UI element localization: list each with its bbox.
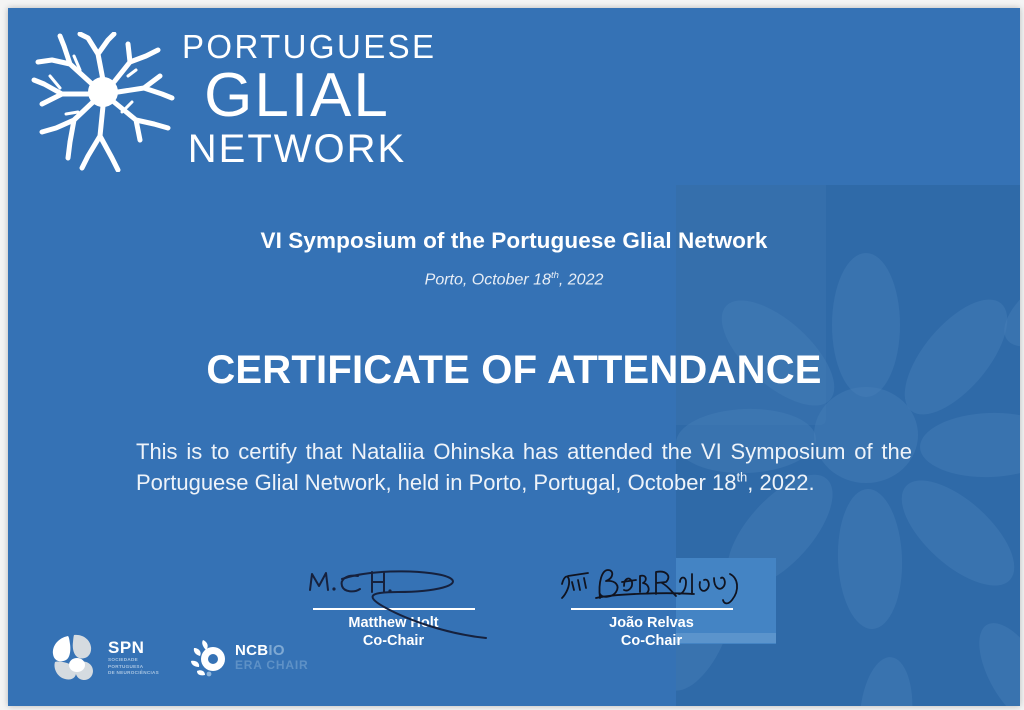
- body-date-ordinal: th: [736, 470, 747, 485]
- event-date-ordinal: th: [551, 270, 559, 281]
- certificate-canvas: PORTUGUESE GLIAL NETWORK VI Symposium of…: [0, 0, 1024, 710]
- certificate-body: This is to certify that Nataliia Ohinska…: [136, 436, 912, 498]
- ncbio-era-chair-icon: [187, 636, 231, 680]
- ncbio-abbr-faded: IO: [268, 642, 284, 659]
- footer-logos: SPN SOCIEDADE PORTUGUESA DE NEUROCIÊNCIA…: [48, 632, 308, 684]
- event-location-date: Porto, October 18th, 2022: [8, 270, 1020, 289]
- signatory-name: João Relvas: [544, 614, 759, 632]
- ncbio-abbr-strong: NCB: [235, 642, 268, 659]
- signature-block-joao-relvas: João Relvas Co-Chair: [544, 564, 759, 650]
- spn-full-line-1: SOCIEDADE: [108, 657, 159, 664]
- signatory-role: Co-Chair: [544, 632, 759, 650]
- signatory-name: Matthew Holt: [286, 614, 501, 632]
- joao-relvas-signature: [544, 564, 759, 608]
- spn-wordmark: SPN SOCIEDADE PORTUGUESA DE NEUROCIÊNCIA…: [108, 639, 159, 677]
- spn-full-line-3: DE NEUROCIÊNCIAS: [108, 670, 159, 677]
- event-date-suffix: , 2022: [559, 271, 603, 288]
- brand-logo: PORTUGUESE GLIAL NETWORK: [30, 24, 410, 184]
- ncbio-wordmark: NCBIO ERA CHAIR: [235, 643, 308, 672]
- spn-logo: SPN SOCIEDADE PORTUGUESA DE NEUROCIÊNCIA…: [48, 632, 159, 684]
- spn-brain-icon: [48, 632, 104, 684]
- event-title: VI Symposium of the Portuguese Glial Net…: [8, 228, 1020, 254]
- ncbio-subtitle: ERA CHAIR: [235, 659, 308, 672]
- signature-rule: [313, 608, 475, 610]
- logo-line-glial: GLIAL: [182, 65, 412, 127]
- body-text-part2: , 2022.: [747, 470, 814, 495]
- ncbio-logo: NCBIO ERA CHAIR: [187, 636, 308, 680]
- event-date-prefix: Porto, October 18: [425, 271, 551, 288]
- signature-rule: [571, 608, 733, 610]
- page-title: CERTIFICATE OF ATTENDANCE: [8, 348, 1020, 393]
- logo-line-portuguese: PORTUGUESE: [182, 30, 412, 63]
- certificate-page: PORTUGUESE GLIAL NETWORK VI Symposium of…: [8, 8, 1020, 706]
- signature-block-matthew-holt: Matthew Holt Co-Chair: [286, 564, 501, 650]
- spn-abbreviation: SPN: [108, 639, 159, 656]
- matthew-holt-signature: [286, 564, 501, 608]
- glial-cell-neuron-icon: [30, 32, 176, 172]
- logo-line-network: NETWORK: [182, 129, 412, 169]
- brand-wordmark: PORTUGUESE GLIAL NETWORK: [182, 30, 412, 169]
